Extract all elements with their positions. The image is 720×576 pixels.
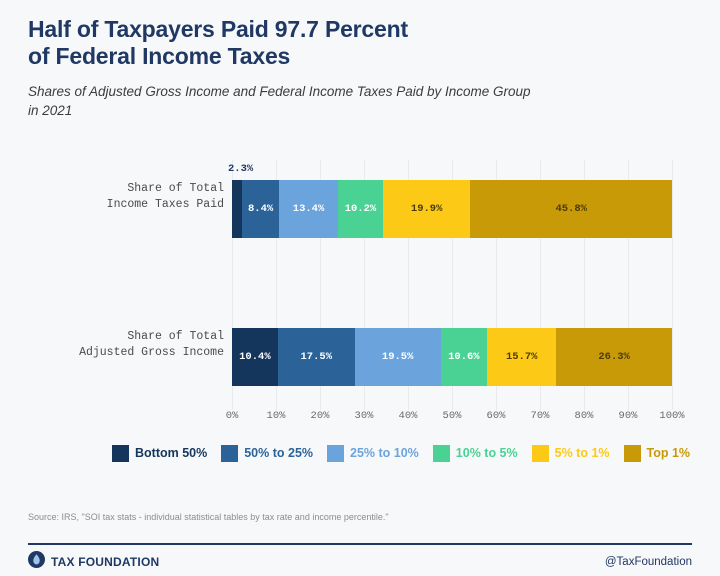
plot-area: 2.3%8.4%13.4%10.2%19.9%45.8% 10.4%17.5%1… (232, 160, 672, 410)
x-axis-tick-label: 30% (355, 410, 374, 422)
category-label-income-taxes-paid: Share of Total Income Taxes Paid (48, 181, 224, 213)
brand-name: TAX FOUNDATION (51, 555, 159, 569)
legend-item[interactable]: Top 1% (624, 445, 691, 462)
bar-segment[interactable]: 26.3% (556, 328, 672, 386)
bar-segment[interactable]: 2.3% (232, 180, 242, 238)
stacked-bar-income-taxes-paid[interactable]: 2.3%8.4%13.4%10.2%19.9%45.8% (232, 180, 672, 238)
legend-label: 25% to 10% (350, 446, 419, 460)
figure-footer: TAX FOUNDATION @TaxFoundation (28, 551, 692, 573)
bar-segment-value-label: 26.3% (598, 351, 630, 363)
bar-segment[interactable]: 19.5% (355, 328, 441, 386)
brand: TAX FOUNDATION (28, 551, 159, 573)
bar-segment-value-label: 15.7% (506, 351, 538, 363)
legend-label: Top 1% (647, 446, 691, 460)
x-axis-tick-label: 100% (659, 410, 684, 422)
bar-segment-value-label: 45.8% (555, 203, 587, 215)
legend-label: 10% to 5% (456, 446, 518, 460)
legend-swatch-icon (112, 445, 129, 462)
x-axis-tick-label: 20% (311, 410, 330, 422)
bar-segment-value-label: 17.5% (300, 351, 332, 363)
chart-legend: Bottom 50%50% to 25%25% to 10%10% to 5%5… (112, 440, 692, 466)
figure-canvas: Half of Taxpayers Paid 97.7 Percent of F… (0, 0, 720, 576)
bar-segment-value-label: 19.9% (411, 203, 443, 215)
legend-item[interactable]: 50% to 25% (221, 445, 313, 462)
x-axis-ticks: 0%10%20%30%40%50%60%70%80%90%100% (232, 410, 672, 428)
x-axis-tick-label: 80% (575, 410, 594, 422)
x-axis-tick-label: 70% (531, 410, 550, 422)
bar-segment[interactable]: 10.6% (441, 328, 488, 386)
bar-segment-value-label: 10.2% (345, 203, 377, 215)
bar-segment[interactable]: 17.5% (278, 328, 355, 386)
chart-figure: Half of Taxpayers Paid 97.7 Percent of F… (0, 0, 720, 576)
x-axis-tick-label: 50% (443, 410, 462, 422)
legend-swatch-icon (532, 445, 549, 462)
social-handle[interactable]: @TaxFoundation (605, 556, 692, 568)
x-axis-tick-label: 40% (399, 410, 418, 422)
tax-foundation-logo-icon (28, 551, 45, 573)
legend-item[interactable]: 10% to 5% (433, 445, 518, 462)
x-axis-tick-label: 60% (487, 410, 506, 422)
x-axis-tick-label: 90% (619, 410, 638, 422)
legend-swatch-icon (624, 445, 641, 462)
bar-segment-value-label: 10.4% (239, 351, 271, 363)
category-label-adjusted-gross-income: Share of Total Adjusted Gross Income (48, 329, 224, 361)
legend-swatch-icon (433, 445, 450, 462)
legend-item[interactable]: 5% to 1% (532, 445, 610, 462)
legend-item[interactable]: 25% to 10% (327, 445, 419, 462)
legend-label: Bottom 50% (135, 446, 207, 460)
bar-segment[interactable]: 10.4% (232, 328, 278, 386)
x-axis-tick-label: 0% (226, 410, 239, 422)
source-note: Source: IRS, "SOI tax stats - individual… (28, 512, 389, 522)
chart-subtitle: Shares of Adjusted Gross Income and Fede… (28, 82, 688, 120)
legend-item[interactable]: Bottom 50% (112, 445, 207, 462)
bar-segment[interactable]: 19.9% (383, 180, 471, 238)
bar-segment[interactable]: 8.4% (242, 180, 279, 238)
stacked-bar-adjusted-gross-income[interactable]: 10.4%17.5%19.5%10.6%15.7%26.3% (232, 328, 672, 386)
bar-segment-value-label: 10.6% (448, 351, 480, 363)
bar-segment[interactable]: 45.8% (470, 180, 672, 238)
bar-segment-value-label: 8.4% (248, 203, 273, 215)
x-axis-tick-label: 10% (267, 410, 286, 422)
bar-segment[interactable]: 13.4% (279, 180, 338, 238)
legend-label: 5% to 1% (555, 446, 610, 460)
legend-swatch-icon (221, 445, 238, 462)
footer-divider (28, 543, 692, 545)
bar-segment[interactable]: 15.7% (487, 328, 556, 386)
legend-label: 50% to 25% (244, 446, 313, 460)
bar-segment-value-label: 19.5% (382, 351, 414, 363)
gridline (672, 160, 673, 410)
bar-segment-value-label: 13.4% (293, 203, 325, 215)
legend-swatch-icon (327, 445, 344, 462)
bar-segment[interactable]: 10.2% (338, 180, 383, 238)
page-title: Half of Taxpayers Paid 97.7 Percent of F… (28, 16, 688, 70)
chart-header: Half of Taxpayers Paid 97.7 Percent of F… (28, 16, 688, 120)
